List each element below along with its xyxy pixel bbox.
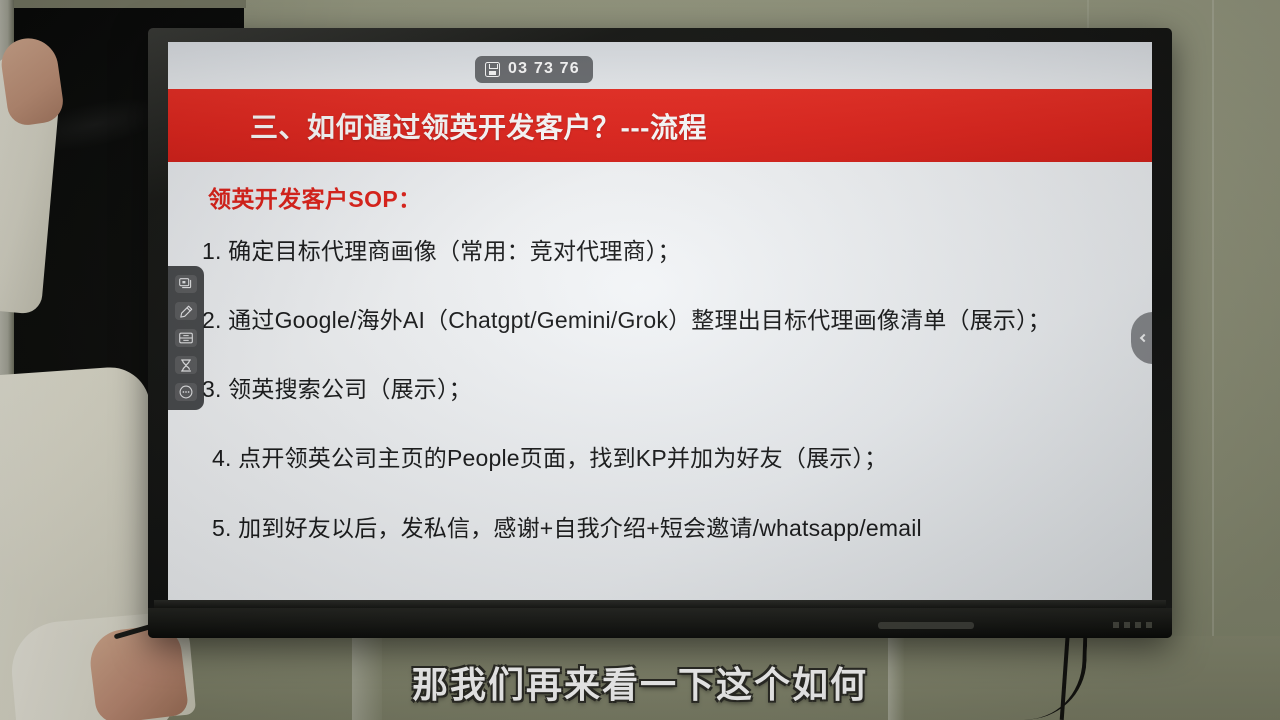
status-badge[interactable]: 03 73 76 bbox=[475, 56, 593, 83]
tv-screen[interactable]: 03 73 76 三、如何通过领英开发客户？---流程 领英开发客户SOP： 1… bbox=[168, 42, 1152, 606]
sop-heading: 领英开发客户SOP： bbox=[208, 180, 422, 214]
tv-bottom-bezel bbox=[148, 608, 1172, 638]
panel-top-edge bbox=[14, 0, 246, 8]
television: 03 73 76 三、如何通过领英开发客户？---流程 领英开发客户SOP： 1… bbox=[148, 28, 1172, 638]
sop-list: 1. 确定目标代理商画像（常用：竞对代理商）； 2. 通过Google/海外AI… bbox=[202, 238, 1152, 542]
list-item: 1. 确定目标代理商画像（常用：竞对代理商）； bbox=[202, 238, 1152, 265]
page-title: 三、如何通过领英开发客户？---流程 bbox=[250, 106, 707, 146]
more-options-icon[interactable] bbox=[175, 383, 197, 401]
list-item: 2. 通过Google/海外AI（Chatgpt/Gemini/Grok）整理出… bbox=[202, 307, 1152, 334]
slide-top-strip bbox=[168, 42, 1152, 89]
slide-title-bar: 三、如何通过领英开发客户？---流程 bbox=[168, 89, 1152, 162]
list-item: 3. 领英搜索公司（展示）； bbox=[202, 376, 1152, 403]
slides-icon[interactable] bbox=[175, 275, 197, 293]
hourglass-icon[interactable] bbox=[175, 356, 197, 374]
list-item: 4. 点开领英公司主页的People页面，找到KP并加为好友（展示）； bbox=[202, 445, 1152, 472]
pen-icon[interactable] bbox=[175, 302, 197, 320]
presentation-slide: 03 73 76 三、如何通过领英开发客户？---流程 领英开发客户SOP： 1… bbox=[168, 42, 1152, 606]
status-badge-label: 03 73 76 bbox=[508, 61, 580, 77]
window-card-icon[interactable] bbox=[175, 329, 197, 347]
chevron-left-icon bbox=[1139, 334, 1147, 342]
tv-ir-sensor bbox=[878, 622, 974, 629]
wall-seam bbox=[1212, 0, 1214, 720]
tv-speaker-bar bbox=[154, 600, 1166, 608]
list-item: 5. 加到好友以后，发私信，感谢+自我介绍+短会邀请/whatsapp/emai… bbox=[202, 515, 1152, 542]
scene-root: 03 73 76 三、如何通过领英开发客户？---流程 领英开发客户SOP： 1… bbox=[0, 0, 1280, 720]
tv-port-vents bbox=[1113, 622, 1157, 628]
subtitle-caption: 那我们再来看一下这个如何 bbox=[0, 656, 1280, 708]
floating-toolbar bbox=[168, 266, 204, 410]
save-floppy-icon bbox=[485, 62, 500, 77]
